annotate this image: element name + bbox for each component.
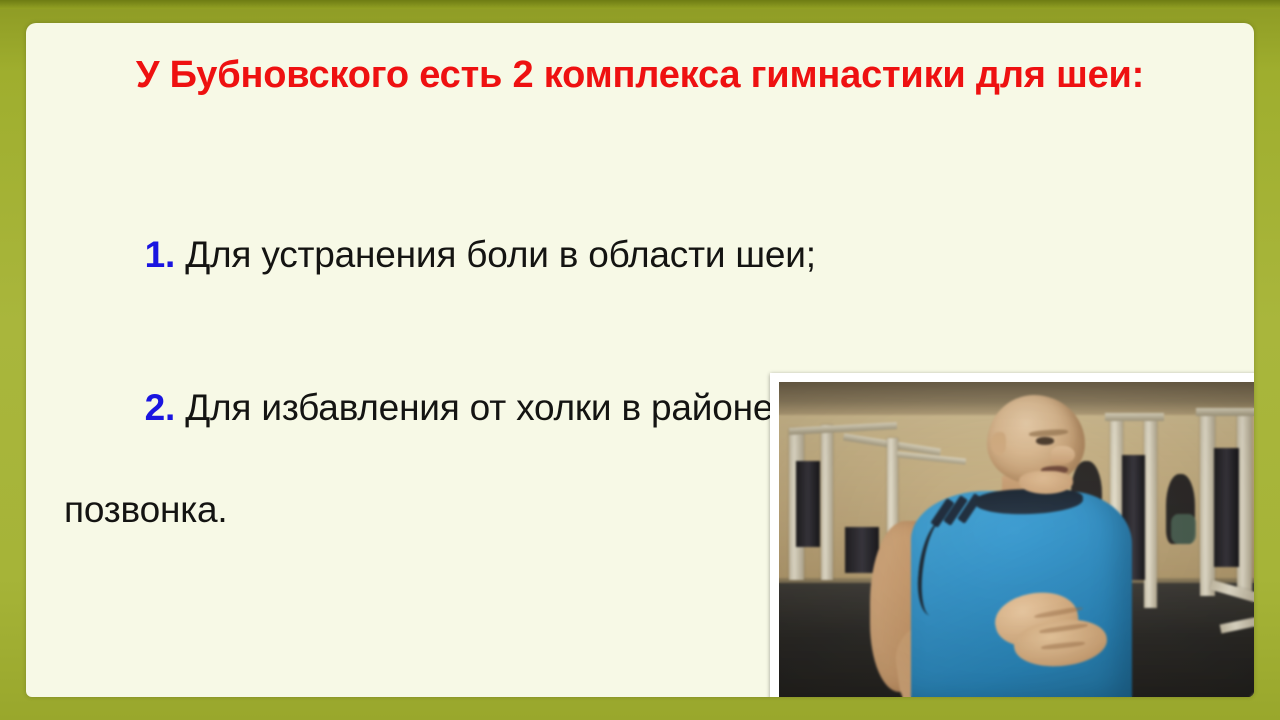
gym-weight-stack	[1214, 448, 1239, 567]
background-person-highlight	[1171, 514, 1196, 544]
list-item-number: 1.	[145, 234, 175, 275]
gym-weight-stack	[796, 461, 821, 547]
man-ear	[991, 432, 1007, 455]
page-title: У Бубновского есть 2 комплекса гимнастик…	[74, 51, 1206, 100]
slide-content-card: У Бубновского есть 2 комплекса гимнастик…	[26, 23, 1254, 697]
list-item-number: 2.	[145, 387, 175, 428]
frame-top-shade	[0, 0, 1280, 9]
gym-machine-column	[1200, 412, 1215, 597]
gym-machine-column	[821, 425, 834, 580]
gym-photo	[779, 382, 1254, 697]
man-eye	[1036, 437, 1054, 444]
gym-machine-column	[1144, 417, 1157, 608]
list-item-text: Для устранения боли в области шеи;	[175, 234, 816, 275]
gym-crossbar	[1105, 413, 1164, 421]
list-item: 1. Для устранения боли в области шеи;	[64, 178, 1224, 331]
gym-crossbar	[1196, 408, 1255, 416]
slide-frame: У Бубновского есть 2 комплекса гимнастик…	[0, 0, 1280, 720]
photo-frame	[770, 373, 1254, 697]
gym-machine-column	[1237, 412, 1252, 597]
